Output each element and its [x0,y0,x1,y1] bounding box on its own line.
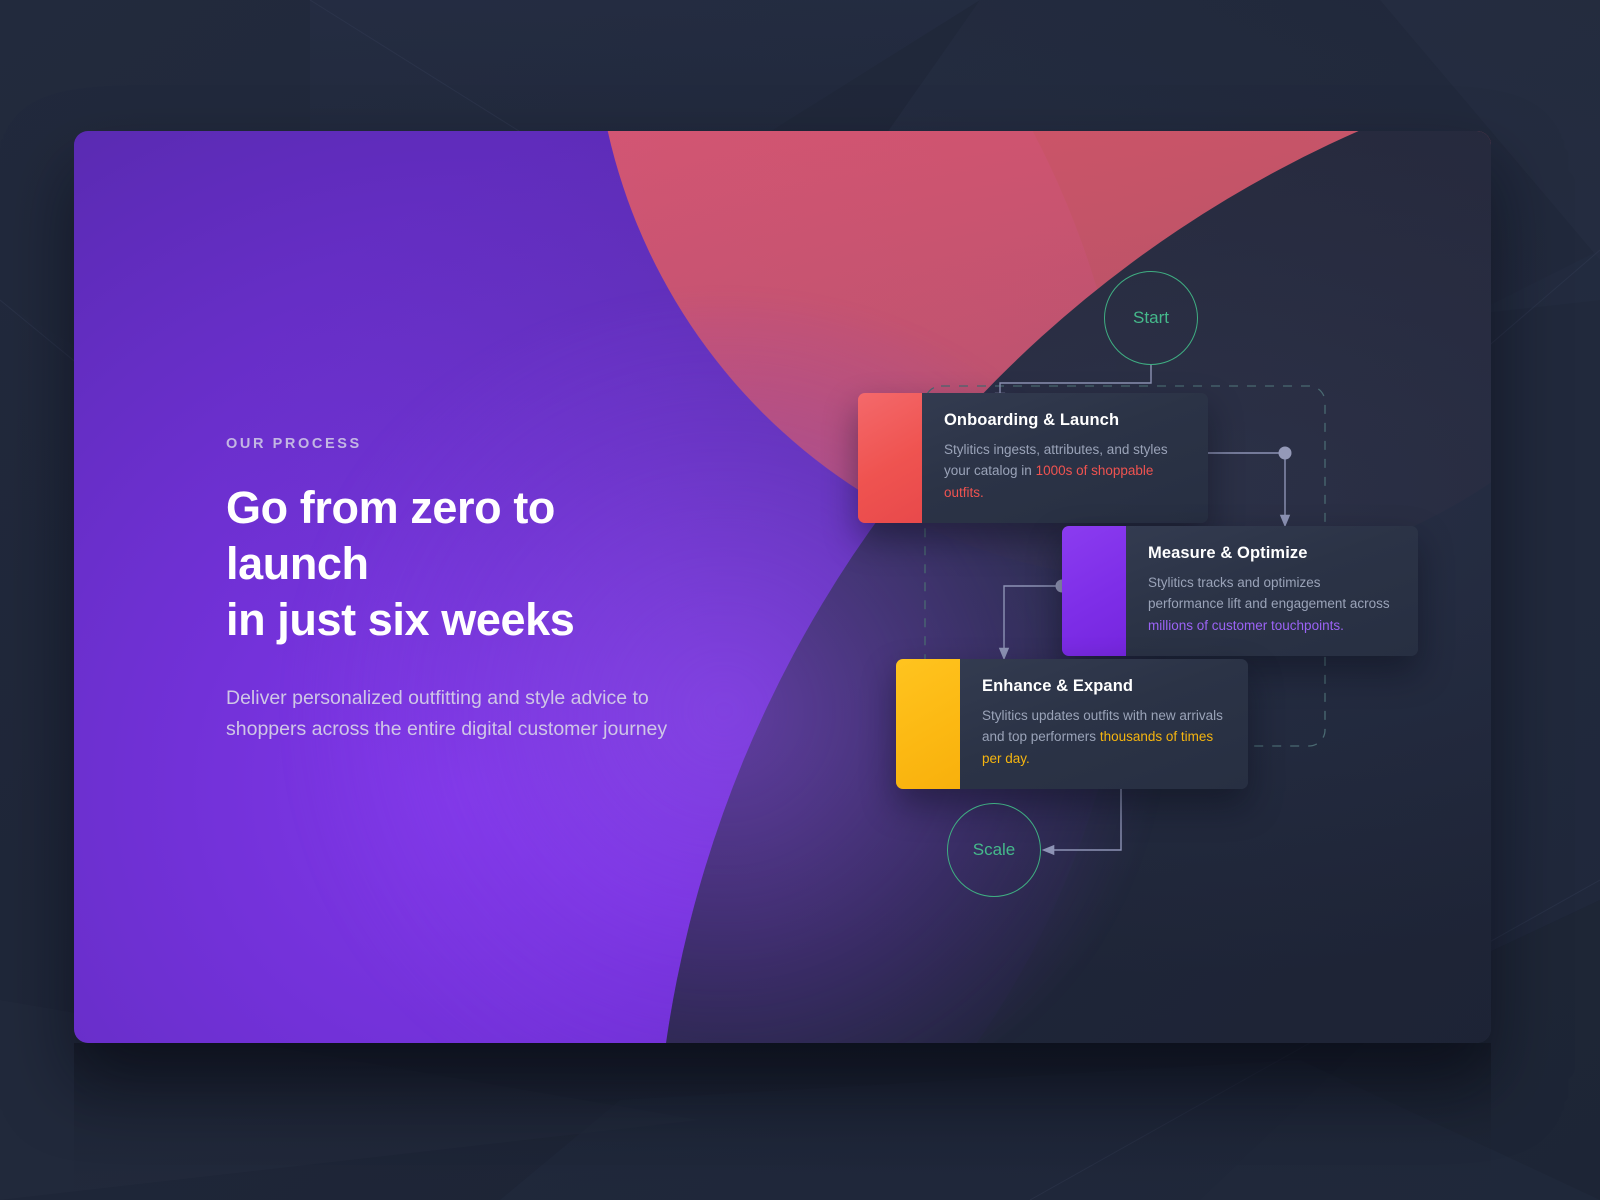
section-subcopy: Deliver personalized outfitting and styl… [226,683,696,745]
flow-node-scale-label: Scale [973,840,1016,860]
hero-panel: OUR PROCESS Go from zero to launch in ju… [74,131,1491,1043]
page-title: Go from zero to launch in just six weeks [226,480,696,647]
flow-node-start[interactable]: Start [1104,271,1198,365]
headline-line-1: Go from zero to launch [226,482,555,589]
section-copy: OUR PROCESS Go from zero to launch in ju… [226,436,696,745]
connector-step1-to-step2 [1208,453,1285,521]
process-card-enhance-expand[interactable]: Enhance & Expand Stylitics updates outfi… [896,659,1248,789]
flow-node-scale[interactable]: Scale [947,803,1041,897]
sliders-icon [1062,526,1126,656]
section-eyebrow: OUR PROCESS [226,436,696,452]
connector-dot-step1 [1279,447,1292,460]
rocket-icon [858,393,922,523]
connector-step2-to-step3 [1004,586,1062,654]
network-add-icon [896,659,960,789]
headline-line-2: in just six weeks [226,594,574,645]
process-card-measure-optimize[interactable]: Measure & Optimize Stylitics tracks and … [1062,526,1418,656]
process-card-onboarding-launch[interactable]: Onboarding & Launch Stylitics ingests, a… [858,393,1208,523]
flow-node-start-label: Start [1133,308,1169,328]
